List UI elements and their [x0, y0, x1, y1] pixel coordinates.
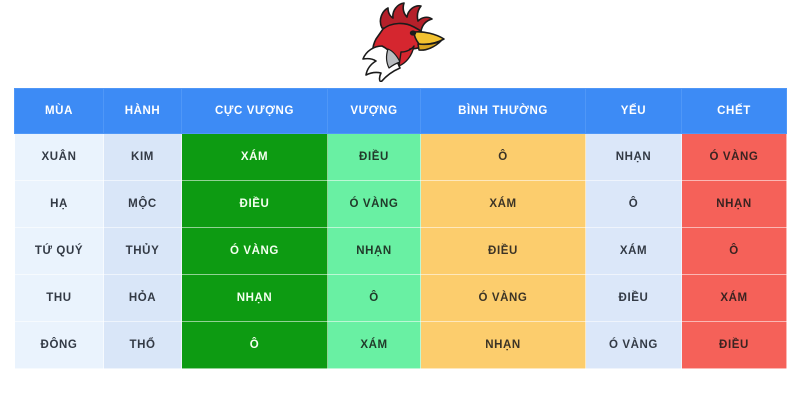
page-root: MÙA HÀNH CỰC VƯỢNG VƯỢNG BÌNH THƯỜNG YẾU… [0, 0, 800, 400]
cell-binh-thuong: XÁM [421, 181, 586, 228]
cell-hanh: KIM [104, 134, 182, 181]
cell-yeu: ĐIỀU [586, 275, 682, 322]
table-row: ĐÔNG THỔ Ô XÁM NHẠN Ó VÀNG ĐIỀU [15, 322, 787, 369]
cell-hanh: HỎA [104, 275, 182, 322]
cell-mua: XUÂN [15, 134, 104, 181]
cell-cuc-vuong: Ó VÀNG [182, 228, 328, 275]
cell-cuc-vuong: NHẠN [182, 275, 328, 322]
cell-mua: HẠ [15, 181, 104, 228]
logo-header [0, 0, 800, 84]
table-row: TỨ QUÝ THỦY Ó VÀNG NHẠN ĐIỀU XÁM Ô [15, 228, 787, 275]
cell-yeu: NHẠN [586, 134, 682, 181]
table-row: THU HỎA NHẠN Ô Ó VÀNG ĐIỀU XÁM [15, 275, 787, 322]
cell-binh-thuong: Ô [421, 134, 586, 181]
cell-cuc-vuong: ĐIỀU [182, 181, 328, 228]
cell-vuong: ĐIỀU [328, 134, 421, 181]
cell-chet: NHẠN [682, 181, 787, 228]
cell-yeu: Ó VÀNG [586, 322, 682, 369]
cell-chet: Ó VÀNG [682, 134, 787, 181]
cell-binh-thuong: ĐIỀU [421, 228, 586, 275]
cell-cuc-vuong: XÁM [182, 134, 328, 181]
cell-chet: Ô [682, 228, 787, 275]
cell-chet: ĐIỀU [682, 322, 787, 369]
cell-binh-thuong: Ó VÀNG [421, 275, 586, 322]
cell-vuong: XÁM [328, 322, 421, 369]
cell-yeu: XÁM [586, 228, 682, 275]
cell-vuong: Ó VÀNG [328, 181, 421, 228]
table-row: XUÂN KIM XÁM ĐIỀU Ô NHẠN Ó VÀNG [15, 134, 787, 181]
column-header-vuong: VƯỢNG [328, 89, 421, 134]
table-container: MÙA HÀNH CỰC VƯỢNG VƯỢNG BÌNH THƯỜNG YẾU… [14, 88, 786, 369]
cell-hanh: MỘC [104, 181, 182, 228]
cell-vuong: Ô [328, 275, 421, 322]
cell-vuong: NHẠN [328, 228, 421, 275]
column-header-hanh: HÀNH [104, 89, 182, 134]
cell-chet: XÁM [682, 275, 787, 322]
cell-hanh: THỦY [104, 228, 182, 275]
cell-binh-thuong: NHẠN [421, 322, 586, 369]
seasonal-color-table: MÙA HÀNH CỰC VƯỢNG VƯỢNG BÌNH THƯỜNG YẾU… [14, 88, 787, 369]
column-header-chet: CHẾT [682, 89, 787, 134]
cell-mua: TỨ QUÝ [15, 228, 104, 275]
table-row: HẠ MỘC ĐIỀU Ó VÀNG XÁM Ô NHẠN [15, 181, 787, 228]
column-header-binh-thuong: BÌNH THƯỜNG [421, 89, 586, 134]
cell-yeu: Ô [586, 181, 682, 228]
cell-hanh: THỔ [104, 322, 182, 369]
column-header-mua: MÙA [15, 89, 104, 134]
column-header-cuc-vuong: CỰC VƯỢNG [182, 89, 328, 134]
header-row: MÙA HÀNH CỰC VƯỢNG VƯỢNG BÌNH THƯỜNG YẾU… [15, 89, 787, 134]
column-header-yeu: YẾU [586, 89, 682, 134]
table-body: XUÂN KIM XÁM ĐIỀU Ô NHẠN Ó VÀNG HẠ MỘC Đ… [15, 134, 787, 369]
table-header: MÙA HÀNH CỰC VƯỢNG VƯỢNG BÌNH THƯỜNG YẾU… [15, 89, 787, 134]
cell-mua: THU [15, 275, 104, 322]
rooster-head-icon [352, 2, 448, 82]
cell-cuc-vuong: Ô [182, 322, 328, 369]
cell-mua: ĐÔNG [15, 322, 104, 369]
